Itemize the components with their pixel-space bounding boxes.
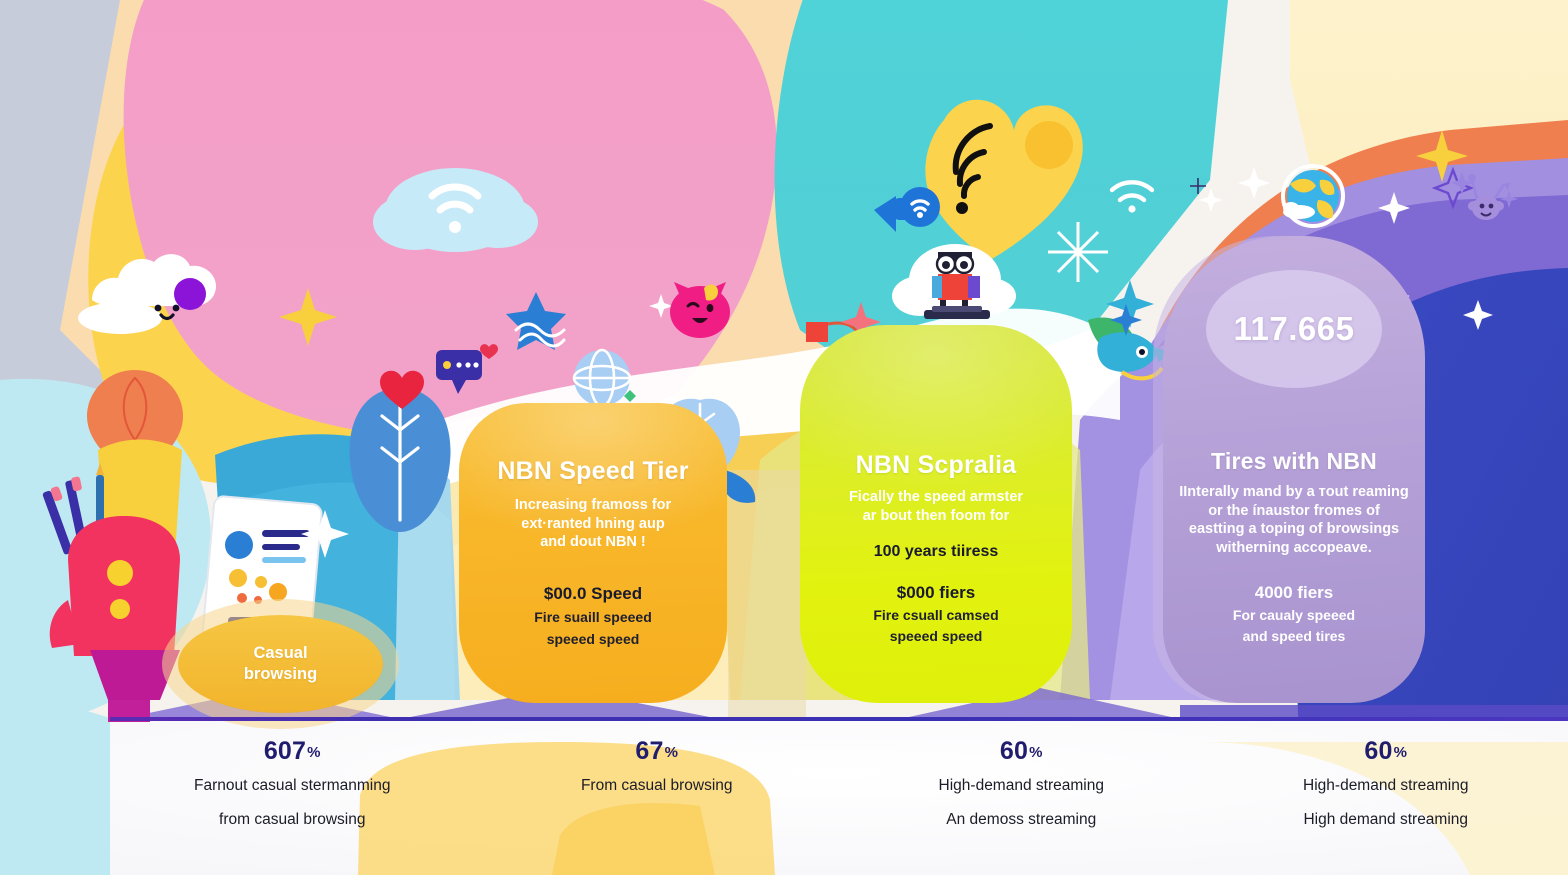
blue-bird-icon [1088,317,1174,378]
stats-row: 607% Farnout casual stermanming from cas… [110,721,1568,875]
smiling-cloud-icon [78,254,216,334]
earth-badge-icon [1283,166,1343,226]
sparkle-icon [279,288,337,346]
casual-label-line2: browsing [244,664,317,685]
stat-number-3: 60 [1364,737,1392,765]
card-nbn-scpralia[interactable]: NBN Scpralia Fically the speed armster a… [800,325,1072,703]
sparkle-icon [1416,130,1468,182]
card-tires-with-nbn[interactable]: 117.665 Tires with NBN IInterally mand b… [1163,236,1425,703]
purple-card-badge: 117.665 [1206,270,1382,388]
casual-label-line1: Casual [253,643,307,664]
stat-value-2: 60% [839,739,1204,764]
stat-item-1: 67% From casual browsing [475,721,840,807]
sparkle-icon [1199,188,1223,212]
stat-line1-1: From casual browsing [475,773,840,798]
stat-item-0: 607% Farnout casual stermanming from cas… [110,721,475,832]
green-card-title: NBN Scpralia [856,451,1017,480]
wifi-cloud-icon [373,168,538,252]
orange-card-note-line1: Fire suaill speeed [534,608,652,626]
stat-value-1: 67% [475,739,840,764]
purple-card-note-line1: For caualy speeed [1163,606,1425,624]
stat-percent-1: % [665,744,679,761]
sparkle-icon [1463,300,1493,330]
orange-card-sub-line1: Increasing framoss for [515,496,671,515]
purple-card-sub-line4: witherning accopeave. [1163,539,1425,558]
green-card-price: $000 fiers [897,583,975,603]
purple-badge-number: 117.665 [1234,310,1355,348]
purple-card-sub-line3: eastting a toping of browsings [1163,520,1425,539]
card-nbn-speed-tier[interactable]: NBN Speed Tier Increasing framoss for ex… [459,403,727,703]
stat-number-2: 60 [1000,737,1028,765]
stat-value-0: 607% [110,739,475,764]
orange-card-note-line2: speeed speed [547,630,640,648]
green-card-sub-line1: Fically the speed armster [849,488,1023,507]
purple-card-body: Tires with NBN IInterally mand by a тout… [1163,448,1425,646]
blue-leaf-icon [349,388,450,532]
stat-number-0: 607 [264,737,306,765]
card-casual-browsing[interactable]: Casual browsing [178,615,383,713]
sparkle-icon [649,294,673,318]
stat-number-1: 67 [635,737,663,765]
stat-line2-2: An demoss streaming [839,807,1204,832]
purple-card-title: Tires with NBN [1163,448,1425,475]
stat-percent-2: % [1029,744,1043,761]
sparkle-icon [1238,167,1270,199]
stat-item-2: 60% High-demand streaming An demoss stre… [839,721,1204,832]
wifi-heart-icon [925,100,1082,260]
purple-card-price: 4000 fiers [1163,583,1425,603]
stat-line1-3: High-demand streaming [1204,773,1568,798]
green-card-note-line1: Fire csuall camsed [873,606,998,624]
sparkle-icon [1378,192,1410,224]
orange-card-sub-line3: and dout NBN ! [540,533,646,552]
green-card-note-line2: speeed speed [890,627,983,645]
stat-item-3: 60% High-demand streaming High demand st… [1204,721,1568,832]
green-card-highlight: 100 years tiiress [874,543,999,561]
stat-percent-3: % [1394,744,1408,761]
purple-card-sub-line2: or the ínaustor fromes of [1163,502,1425,521]
stat-line2-3: High demand streaming [1204,807,1568,832]
wifi-signal-icon [1112,182,1152,200]
orange-card-title: NBN Speed Tier [497,457,688,486]
purple-card-note-line2: and speed tires [1163,627,1425,645]
chat-bubble-icon [436,344,498,394]
infographic-canvas: Casual browsing NBN Speed Tier Increasin… [0,0,1568,875]
stat-line1-2: High-demand streaming [839,773,1204,798]
stat-value-3: 60% [1204,739,1568,764]
purple-card-sub-line1: IInterally mand by a тout reaming [1163,483,1425,502]
orange-card-sub-line2: ext·ranted hning aup [521,515,664,534]
orange-card-price: $00.0 Speed [544,584,642,604]
sparkle-icon [1190,178,1206,194]
wifi-signal-icon [874,187,940,232]
sparkle-icon [1048,222,1108,282]
purple-alien-icon [1435,170,1518,220]
stat-line2-0: from casual browsing [110,807,475,832]
green-card-sub-line2: ar bout then foom for [863,507,1010,526]
blue-star-icon [506,292,566,350]
stat-line1-0: Farnout casual stermanming [110,773,475,798]
stat-percent-0: % [307,744,321,761]
